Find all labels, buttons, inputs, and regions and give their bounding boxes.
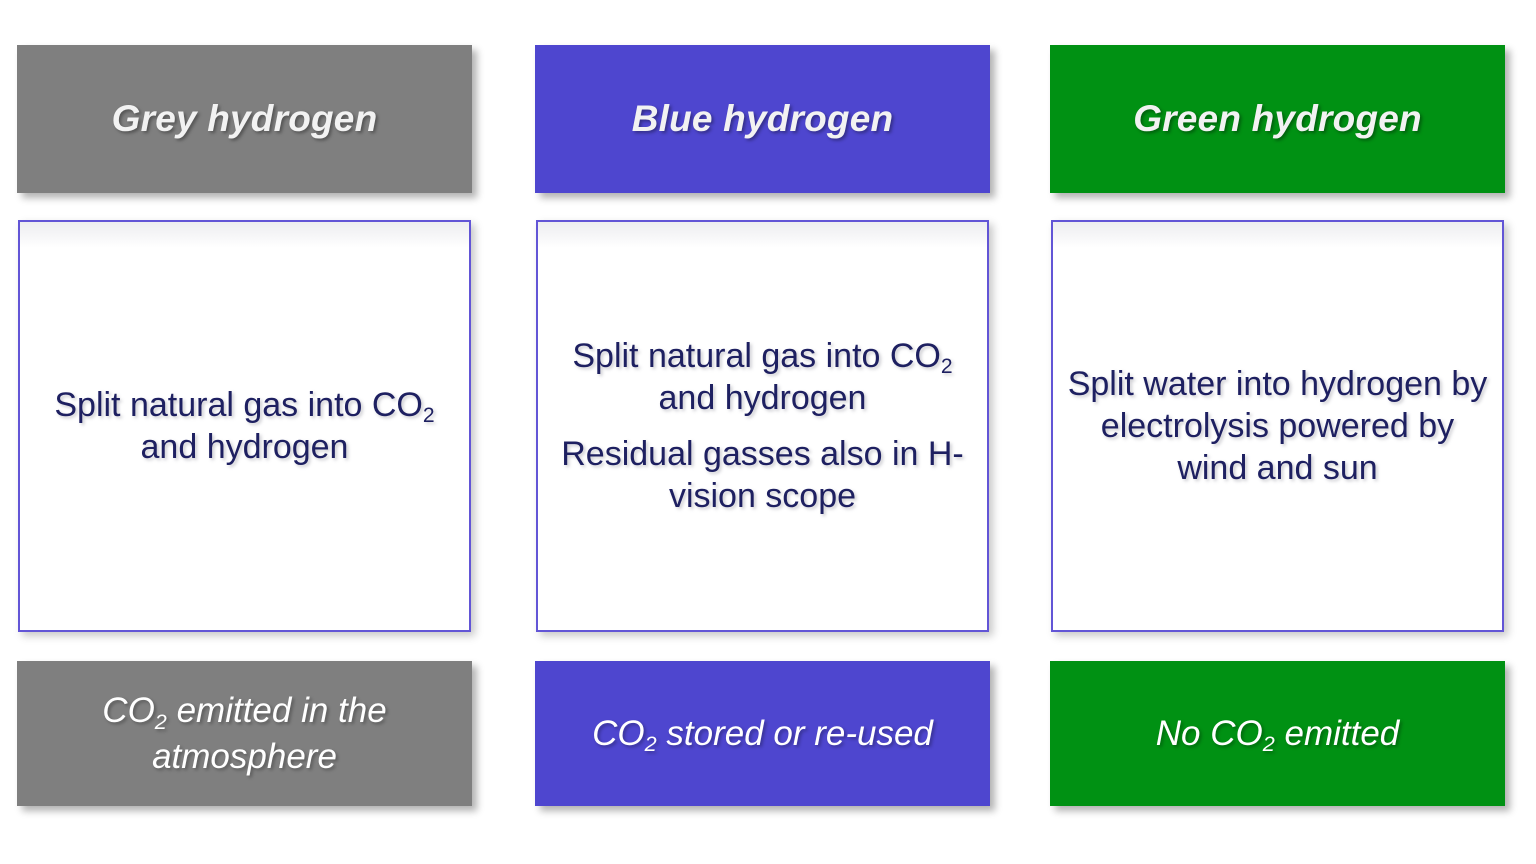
header-label-grey-hydrogen: Grey hydrogen	[112, 99, 378, 140]
description-paragraph: Residual gasses also in H-vision scope	[552, 433, 973, 517]
outcome-text-before: No CO	[1156, 714, 1263, 753]
outcome-text-after: emitted in the atmosphere	[152, 691, 387, 776]
description-paragraph: Split natural gas into CO2 and hydrogen	[552, 335, 973, 419]
outcome-label-blue-hydrogen: CO2 stored or re-used	[592, 711, 933, 757]
outcome-box-grey-hydrogen[interactable]: CO2 emitted in the atmosphere	[17, 661, 472, 806]
column-green-hydrogen: Green hydrogen Split water into hydrogen…	[1050, 0, 1505, 864]
outcome-text-after: emitted	[1275, 714, 1400, 753]
column-grey-hydrogen: Grey hydrogen Split natural gas into CO2…	[17, 0, 472, 864]
description-box-blue-hydrogen: Split natural gas into CO2 and hydrogen …	[536, 220, 989, 632]
description-paragraph: Split natural gas into CO2 and hydrogen	[34, 384, 455, 468]
description-text-after: and hydrogen	[659, 379, 867, 417]
description-text-after: and hydrogen	[141, 428, 349, 466]
outcome-box-blue-hydrogen[interactable]: CO2 stored or re-used	[535, 661, 990, 806]
subscript-two: 2	[645, 731, 657, 756]
description-paragraph: Split water into hydrogen by electrolysi…	[1067, 363, 1488, 489]
column-blue-hydrogen: Blue hydrogen Split natural gas into CO2…	[535, 0, 990, 864]
outcome-label-green-hydrogen: No CO2 emitted	[1156, 711, 1400, 757]
hydrogen-comparison-diagram: Grey hydrogen Split natural gas into CO2…	[0, 0, 1536, 864]
subscript-two: 2	[1263, 731, 1275, 756]
header-label-blue-hydrogen: Blue hydrogen	[632, 99, 894, 140]
outcome-text-before: CO	[592, 714, 645, 753]
description-box-green-hydrogen: Split water into hydrogen by electrolysi…	[1051, 220, 1504, 632]
subscript-two: 2	[423, 404, 435, 427]
description-box-grey-hydrogen: Split natural gas into CO2 and hydrogen	[18, 220, 471, 632]
description-text-before: Residual gasses also in H-vision scope	[561, 435, 964, 515]
outcome-text-after: stored or re-used	[657, 714, 933, 753]
description-text-before: Split natural gas into CO	[54, 386, 423, 424]
header-label-green-hydrogen: Green hydrogen	[1133, 99, 1422, 140]
header-box-grey-hydrogen[interactable]: Grey hydrogen	[17, 45, 472, 193]
subscript-two: 2	[941, 355, 953, 378]
outcome-box-green-hydrogen[interactable]: No CO2 emitted	[1050, 661, 1505, 806]
subscript-two: 2	[155, 709, 167, 734]
outcome-label-grey-hydrogen: CO2 emitted in the atmosphere	[33, 688, 456, 779]
description-text-before: Split water into hydrogen by electrolysi…	[1068, 365, 1488, 487]
description-text-before: Split natural gas into CO	[572, 337, 941, 375]
header-box-green-hydrogen[interactable]: Green hydrogen	[1050, 45, 1505, 193]
header-box-blue-hydrogen[interactable]: Blue hydrogen	[535, 45, 990, 193]
outcome-text-before: CO	[102, 691, 155, 730]
